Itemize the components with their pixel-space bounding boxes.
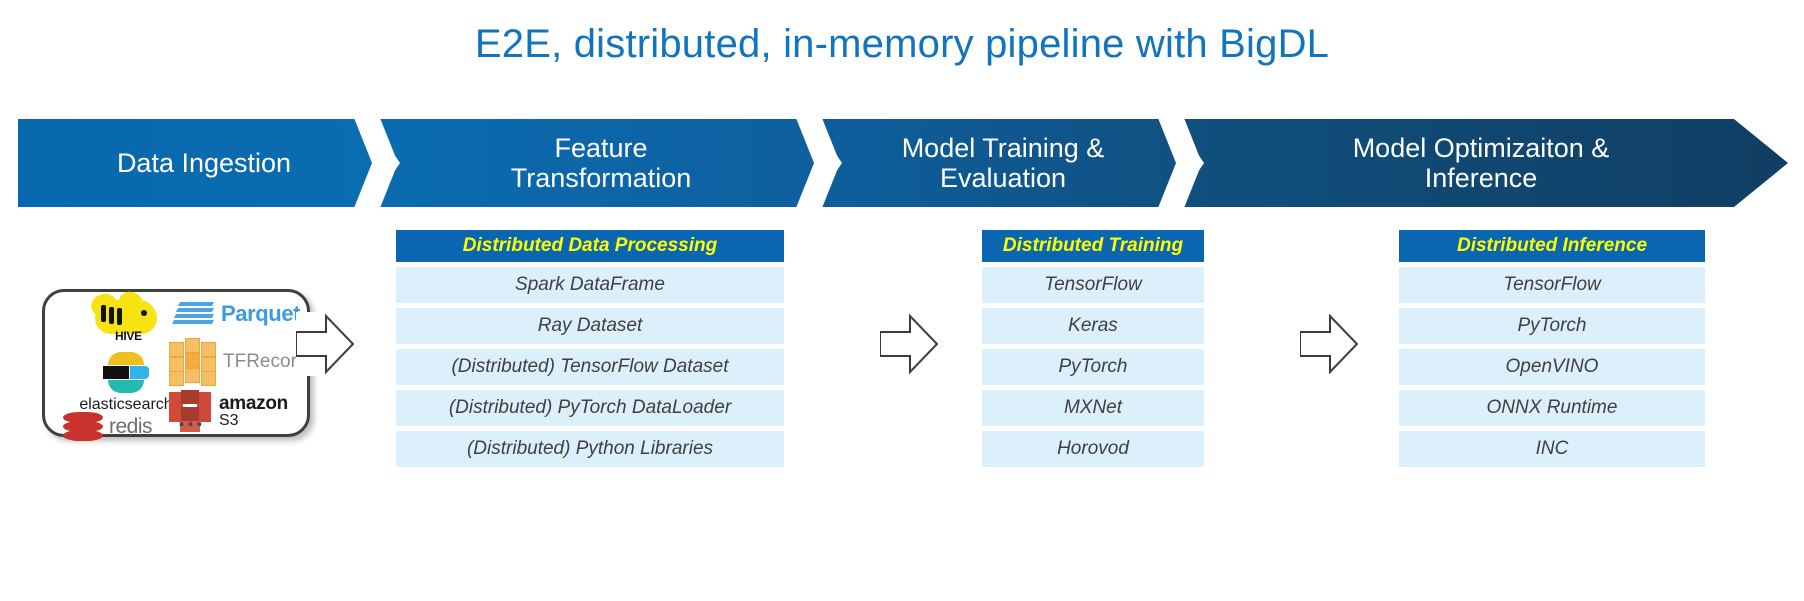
- slide-canvas: E2E, distributed, in-memory pipeline wit…: [0, 0, 1804, 601]
- arrow-processing-to-training-icon: [880, 312, 938, 376]
- s3-label: S3: [219, 413, 288, 429]
- table-row[interactable]: TensorFlow: [1399, 267, 1705, 303]
- stage-label-line: Data Ingestion: [117, 148, 291, 178]
- table-header: Distributed Data Processing: [396, 230, 784, 262]
- table-row[interactable]: (Distributed) TensorFlow Dataset: [396, 349, 784, 385]
- redis-label: redis: [109, 415, 152, 439]
- table-row[interactable]: Keras: [982, 308, 1204, 344]
- table-row[interactable]: (Distributed) Python Libraries: [396, 431, 784, 467]
- hive-label: HIVE: [115, 329, 142, 343]
- amazon-label: amazon: [219, 394, 288, 413]
- pipeline-stage-model-optimization-inference[interactable]: Model Optimizaiton & Inference: [1174, 119, 1788, 207]
- stage-label-line: Transformation: [511, 163, 692, 193]
- stage-label-line: Model Optimizaiton &: [1353, 133, 1610, 163]
- page-title: E2E, distributed, in-memory pipeline wit…: [0, 22, 1804, 67]
- table-row[interactable]: Spark DataFrame: [396, 267, 784, 303]
- table-row[interactable]: INC: [1399, 431, 1705, 467]
- table-row[interactable]: (Distributed) PyTorch DataLoader: [396, 390, 784, 426]
- hive-icon: HIVE: [75, 296, 179, 350]
- stage-label-line: Feature: [511, 133, 692, 163]
- stage-label-line: Inference: [1353, 163, 1610, 193]
- pipeline-stage-data-ingestion[interactable]: Data Ingestion: [18, 119, 390, 207]
- arrow-sources-to-processing-icon: [296, 312, 354, 376]
- pipeline-banner: Data Ingestion Feature Transformation Mo…: [18, 119, 1788, 207]
- table-row[interactable]: PyTorch: [982, 349, 1204, 385]
- table-row[interactable]: TensorFlow: [982, 267, 1204, 303]
- table-row[interactable]: Ray Dataset: [396, 308, 784, 344]
- arrow-training-to-inference-icon: [1300, 312, 1358, 376]
- table-distributed-inference: Distributed Inference TensorFlow PyTorch…: [1399, 230, 1705, 467]
- pipeline-stage-model-training-evaluation[interactable]: Model Training & Evaluation: [812, 119, 1194, 207]
- sources-ellipsis: ...: [178, 404, 205, 433]
- table-header: Distributed Training: [982, 230, 1204, 262]
- table-row[interactable]: ONNX Runtime: [1399, 390, 1705, 426]
- table-row[interactable]: Horovod: [982, 431, 1204, 467]
- table-distributed-training: Distributed Training TensorFlow Keras Py…: [982, 230, 1204, 467]
- stage-label-line: Model Training &: [902, 133, 1105, 163]
- table-row[interactable]: PyTorch: [1399, 308, 1705, 344]
- table-row[interactable]: MXNet: [982, 390, 1204, 426]
- pipeline-stage-feature-transformation[interactable]: Feature Transformation: [370, 119, 832, 207]
- data-sources-card: HIVE elasticsearch redis: [42, 289, 310, 437]
- tfrecord-label: TFRecord: [223, 351, 307, 373]
- parquet-label: Parquet: [221, 301, 300, 327]
- table-distributed-data-processing: Distributed Data Processing Spark DataFr…: [396, 230, 784, 467]
- table-row[interactable]: OpenVINO: [1399, 349, 1705, 385]
- table-header: Distributed Inference: [1399, 230, 1705, 262]
- stage-label-line: Evaluation: [902, 163, 1105, 193]
